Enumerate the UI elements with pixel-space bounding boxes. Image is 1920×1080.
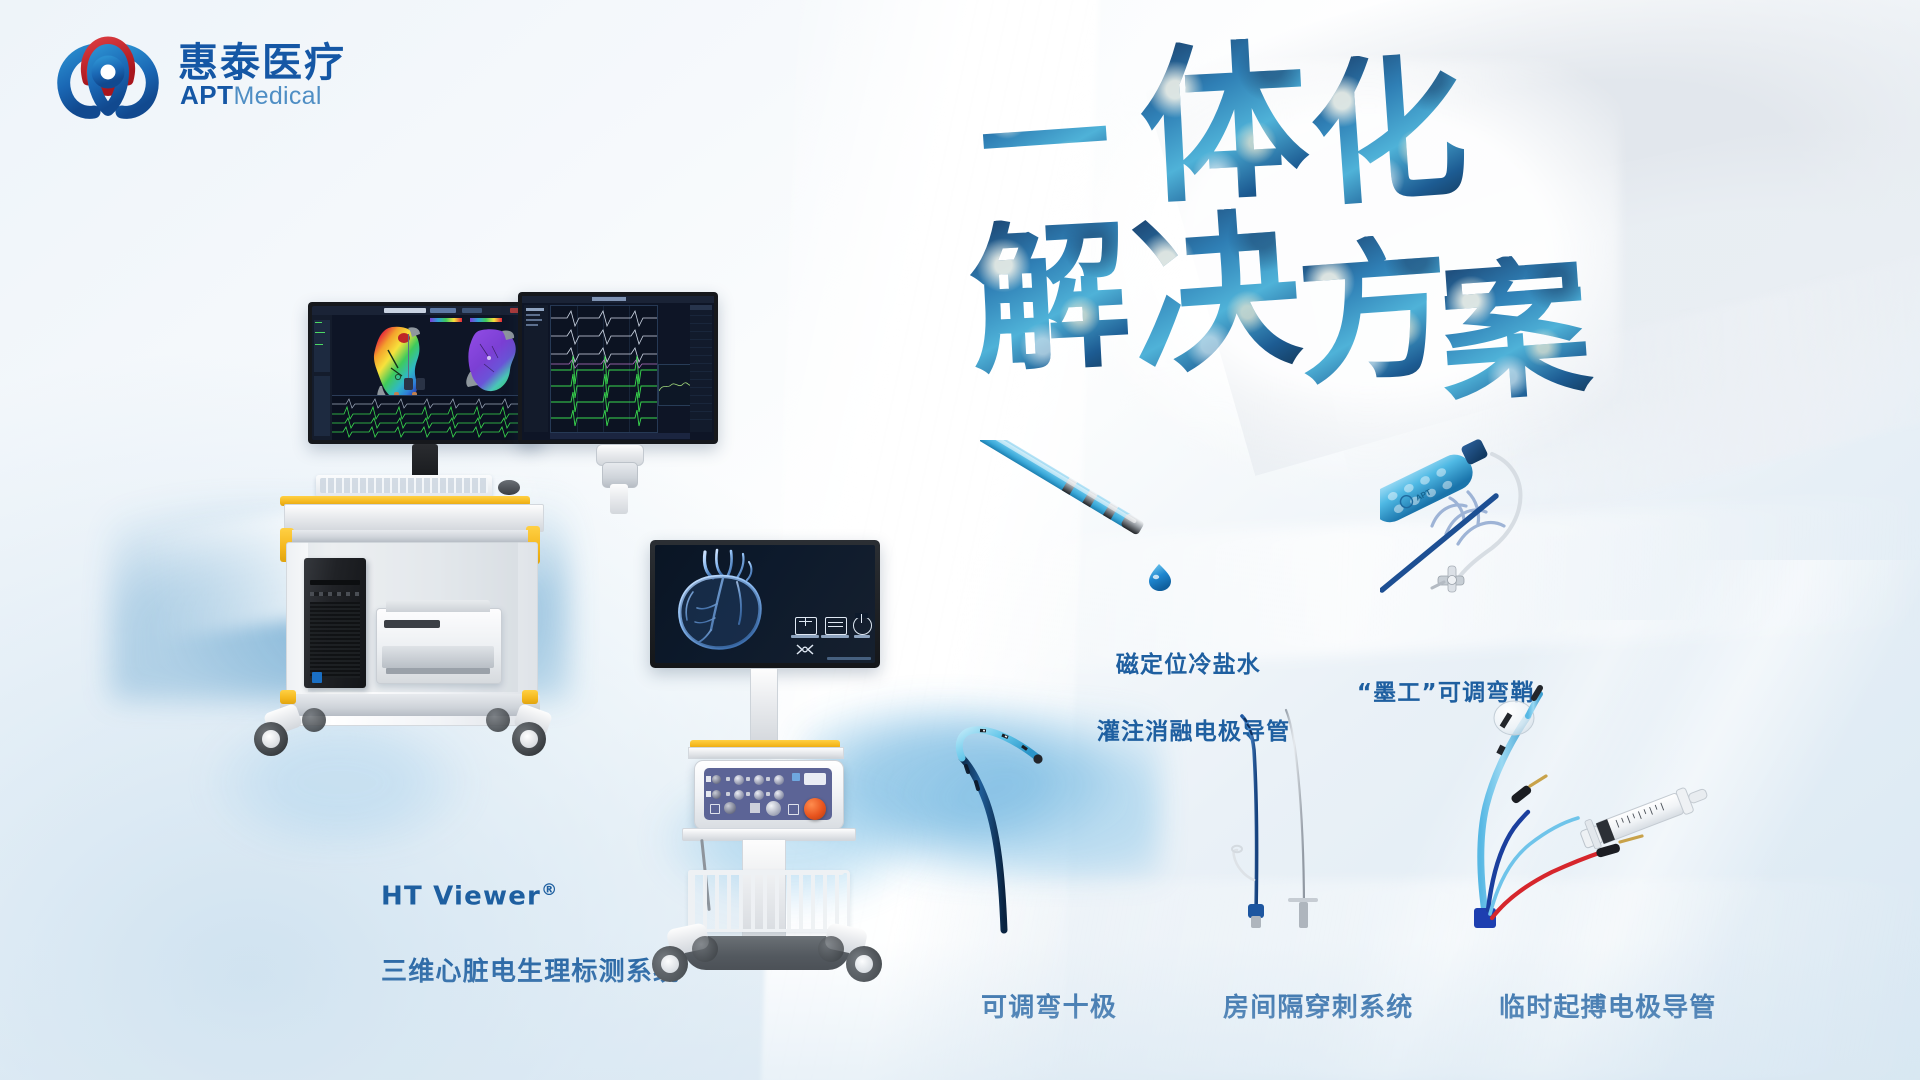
recording-channel-table bbox=[690, 305, 712, 432]
caster-hub-front-left bbox=[262, 730, 280, 748]
printer-top-tray bbox=[386, 600, 490, 612]
caster-wheel-rear-left bbox=[302, 708, 326, 732]
inflation-syringe-icon bbox=[1577, 777, 1711, 852]
saline-droplet-icon bbox=[1149, 564, 1171, 591]
decapolar-catheter-icon bbox=[930, 710, 1150, 940]
headline-char-5: 决 bbox=[1126, 204, 1305, 383]
open-study-label bbox=[821, 635, 849, 638]
transseptal-needle-icon bbox=[1200, 680, 1380, 930]
marketing-banner: 惠泰医疗 APTMedical 一 体 化 解 决 方 案 bbox=[0, 0, 1920, 1080]
cart2-tray bbox=[688, 747, 844, 759]
mouse[interactable] bbox=[498, 480, 520, 495]
brush-stroke-ur-1 bbox=[1140, 0, 1920, 476]
product-image-ablation-catheter bbox=[980, 440, 1210, 600]
emergency-stop-button[interactable] bbox=[804, 798, 826, 820]
product-label-pacing-catheter: 临时起搏电极导管 bbox=[1458, 952, 1717, 1065]
power-icon[interactable] bbox=[853, 616, 872, 635]
mapping-monitor-ecg-area bbox=[332, 395, 538, 440]
recording-monitor-post bbox=[610, 484, 628, 514]
new-study-label bbox=[791, 635, 819, 638]
headline-char-7: 案 bbox=[1435, 251, 1595, 411]
product-image-steerable-sheath: APT bbox=[1380, 430, 1710, 630]
open-study-folder-icon[interactable] bbox=[825, 617, 847, 635]
recording-monitor-screen bbox=[522, 296, 714, 440]
mapping-monitor bbox=[308, 302, 542, 444]
printer-panel bbox=[384, 620, 440, 628]
steerable-sheath-icon: APT bbox=[1380, 430, 1710, 630]
control-panel-face[interactable] bbox=[704, 768, 832, 820]
desk-surface bbox=[284, 504, 544, 532]
new-study-folder-icon[interactable] bbox=[795, 617, 817, 635]
headline-char-3: 化 bbox=[1305, 49, 1472, 216]
cart2-basket bbox=[688, 870, 850, 932]
apt-medical-interlocking-rings-logo bbox=[48, 24, 168, 120]
brand-name-en: APTMedical bbox=[180, 80, 322, 111]
product-label-decapolar: 可调弯十极 bbox=[940, 952, 1117, 1065]
transseptal-name: 房间隔穿刺系统 bbox=[1223, 993, 1413, 1023]
cart-bottom-accent-r bbox=[522, 690, 538, 704]
white-splash-headline bbox=[1060, 60, 1620, 480]
headline-char-2: 体 bbox=[1136, 36, 1313, 213]
tower-badge bbox=[312, 672, 322, 683]
caster-wheel-rear-right bbox=[486, 708, 510, 732]
settings-registration-icon[interactable] bbox=[795, 643, 815, 656]
caster-hub-front-right bbox=[520, 730, 538, 748]
ablation-catheter-icon bbox=[980, 440, 1210, 600]
ht-viewer-registered-mark: ® bbox=[541, 880, 558, 899]
keyboard-keys bbox=[320, 478, 488, 493]
recording-wave-panel bbox=[550, 305, 658, 433]
product-label-ht-viewer: HT Viewer® 三维心脏电生理标测系统 bbox=[340, 840, 680, 1029]
mobile-touchscreen-cart bbox=[650, 540, 900, 1040]
touchscreen-post bbox=[750, 668, 778, 746]
printer-paper-slot bbox=[386, 668, 490, 674]
product-image-decapolar bbox=[930, 710, 1150, 940]
recording-secondary-panel bbox=[658, 364, 692, 406]
product-image-pacing-catheter bbox=[1470, 670, 1830, 930]
hemostasis-valve-icon bbox=[1432, 566, 1464, 592]
heart-anatomy-icon bbox=[657, 548, 797, 660]
power-label bbox=[854, 635, 870, 638]
pacing-catheter-icon bbox=[1470, 670, 1830, 930]
brand-name-en-light: Medical bbox=[234, 82, 322, 110]
brand-name-en-bold: APT bbox=[180, 80, 234, 110]
tower-optical-drive bbox=[310, 580, 360, 585]
recording-monitor bbox=[518, 292, 718, 444]
headline: 一 体 化 解 决 方 案 bbox=[980, 40, 1640, 340]
cart2-caster-rear-left bbox=[692, 936, 718, 962]
touchscreen-display[interactable] bbox=[650, 540, 880, 668]
cart2-caster-rear-right bbox=[818, 936, 844, 962]
product-image-transseptal bbox=[1200, 680, 1380, 930]
mapping-monitor-screen bbox=[312, 306, 538, 440]
product-label-transseptal: 房间隔穿刺系统 bbox=[1182, 952, 1413, 1065]
touchscreen-canvas bbox=[655, 545, 875, 663]
cart2-caster-hub-fr bbox=[855, 955, 873, 973]
headline-char-4: 解 bbox=[966, 214, 1134, 382]
ht-viewer-name-en: HT Viewer bbox=[381, 881, 541, 911]
tower-vent-grille bbox=[310, 602, 360, 678]
ablation-catheter-line1: 磁定位冷盐水 bbox=[1116, 652, 1261, 678]
desk-under-rail bbox=[292, 530, 528, 542]
ht-viewer-name-cn: 三维心脏电生理标测系统 bbox=[381, 957, 680, 987]
headline-char-1: 一 bbox=[976, 74, 1115, 213]
printer-out-tray bbox=[382, 646, 494, 668]
brand-logo[interactable]: 惠泰医疗 APTMedical bbox=[48, 22, 378, 122]
decapolar-name: 可调弯十极 bbox=[981, 993, 1117, 1023]
cart2-caster-hub-fl bbox=[661, 955, 679, 973]
pacing-catheter-name: 临时起搏电极导管 bbox=[1499, 993, 1717, 1023]
cardiac-map-rainbow bbox=[358, 324, 442, 404]
brand-watermark-screen bbox=[827, 657, 871, 660]
headline-char-6: 方 bbox=[1293, 231, 1455, 393]
ht-viewer-workstation bbox=[290, 290, 710, 810]
cart-bottom-accent-l bbox=[280, 690, 296, 704]
tower-ports bbox=[310, 592, 360, 596]
cart2-basket-rail bbox=[688, 870, 844, 875]
